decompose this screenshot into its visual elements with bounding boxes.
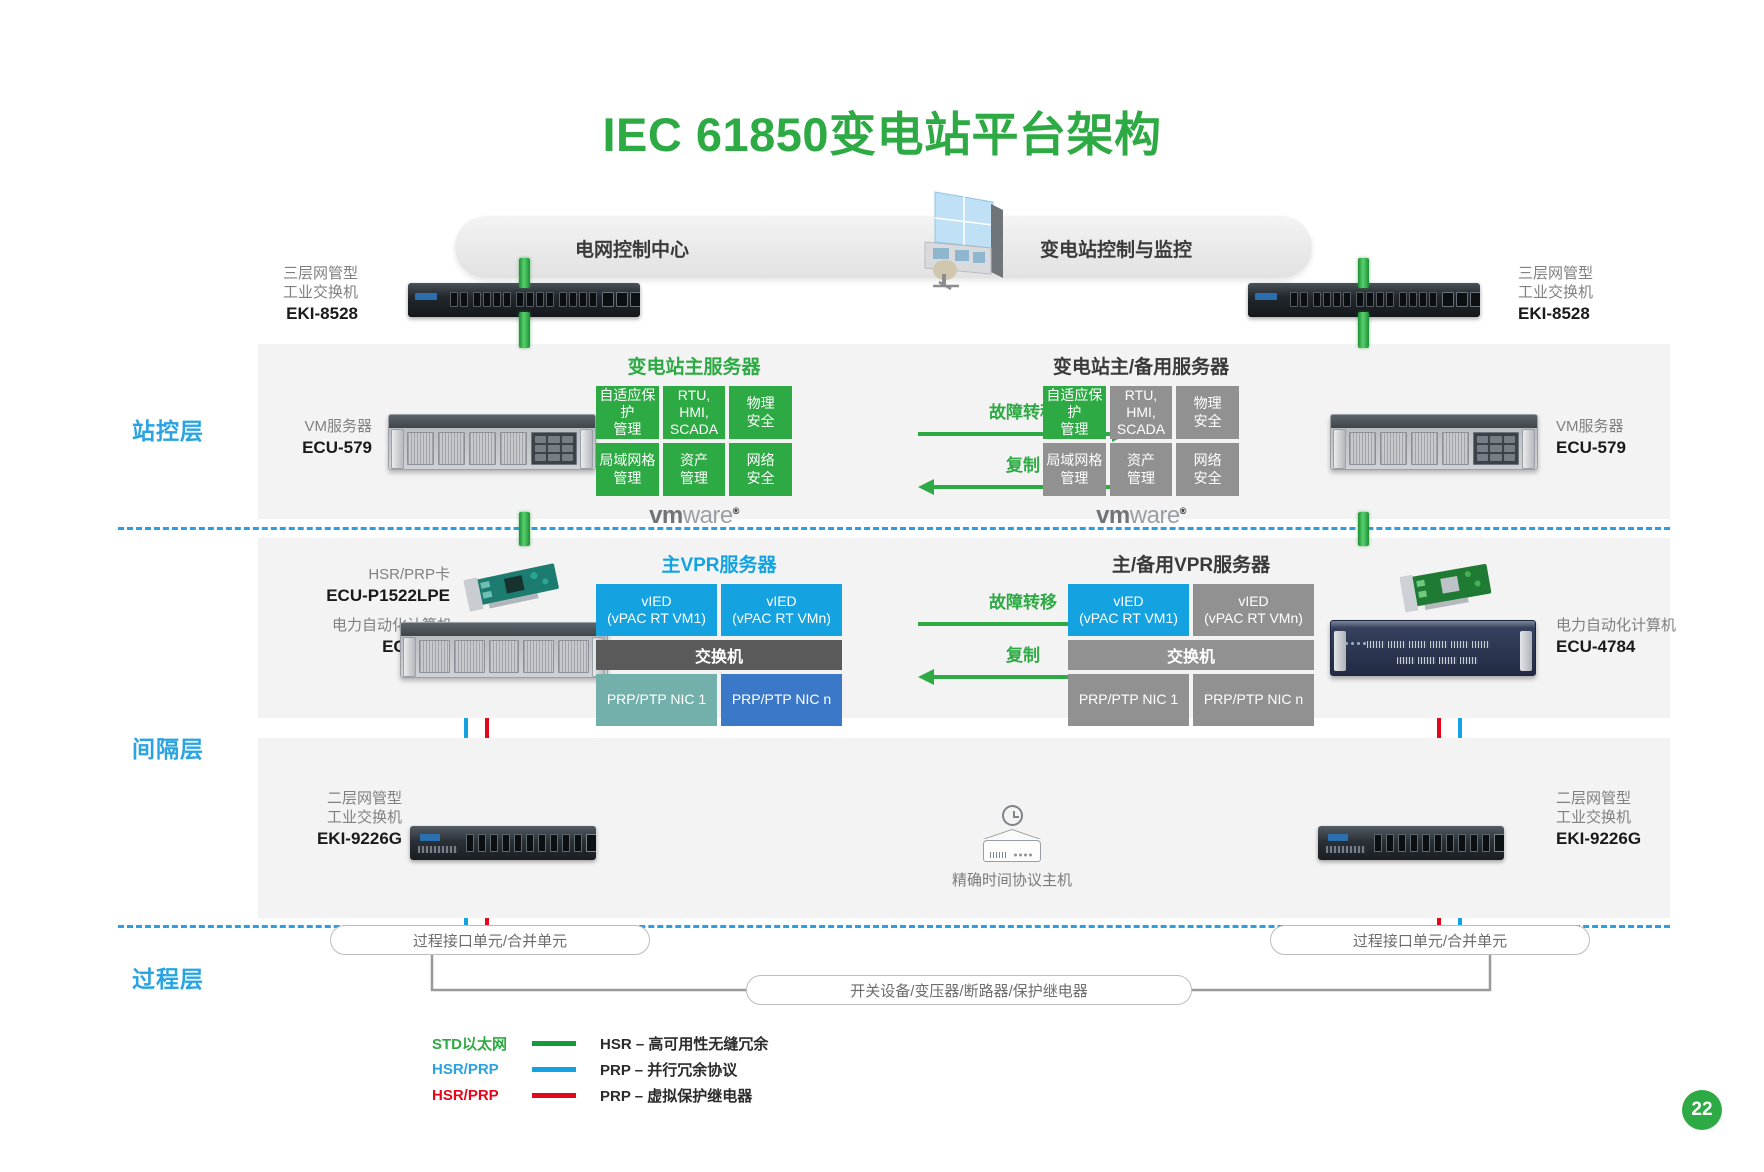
caption-switch-l2-left: 二层网管型 工业交换机 EKI-9226G	[262, 790, 402, 849]
app-cell[interactable]: RTU, HMI,SCADA	[663, 386, 726, 439]
station-server-left-header: 变电站主服务器	[596, 352, 792, 379]
vm-server-right-sub1: VM服务器	[1556, 418, 1676, 437]
app-cell[interactable]: 资产管理	[663, 443, 726, 496]
diagram-canvas: IEC 61850变电站平台架构 电网控制中心 变电站控制与监控	[0, 0, 1764, 1172]
switch-l3-right-sub1: 三层网管型	[1518, 265, 1658, 284]
app-cell[interactable]: 局域网格管理	[596, 443, 659, 496]
app-cell[interactable]: 物理安全	[729, 386, 792, 439]
port-array	[466, 834, 596, 852]
nic-cell[interactable]: PRP/PTP NIC 1	[1068, 674, 1189, 726]
rack-ear-left	[391, 429, 404, 469]
rack-ear-left	[1333, 429, 1346, 469]
led-bank	[1326, 846, 1366, 853]
clock-icon	[1002, 805, 1023, 826]
legend-row: HSR/PRP PRP – 虚拟保护继电器	[432, 1082, 768, 1108]
app-cell[interactable]: 自适应保护管理	[1043, 386, 1106, 439]
legend: STD以太网 HSR – 高可用性无缝冗余 HSR/PRP PRP – 并行冗余…	[432, 1030, 768, 1108]
vm-server-left-model: ECU-579	[262, 437, 372, 458]
vpr-right-nic-row: PRP/PTP NIC 1 PRP/PTP NIC n	[1068, 674, 1314, 726]
drive-bays	[407, 432, 577, 465]
pac-right-sub1: 电力自动化计算机	[1556, 617, 1746, 636]
server-top-bezel	[401, 623, 607, 636]
server-top-bezel	[1331, 415, 1537, 428]
port-array	[1374, 834, 1504, 852]
legend-key: STD以太网	[432, 1033, 528, 1054]
link-green-topbar-switch-left	[519, 258, 530, 288]
switch-l3-right-sub2: 工业交换机	[1518, 284, 1658, 303]
switchgear-bar: 开关设备/变压器/断路器/保护继电器	[746, 975, 1192, 1005]
nic-cell[interactable]: PRP/PTP NIC 1	[596, 674, 717, 726]
switch-l2-left-sub2: 工业交换机	[262, 809, 402, 828]
caption-switch-l2-right: 二层网管型 工业交换机 EKI-9226G	[1556, 790, 1696, 849]
brand-mark	[1255, 293, 1277, 300]
process-interface-unit-right: 过程接口单元/合并单元	[1270, 925, 1590, 955]
port-row-2	[1397, 657, 1478, 664]
page-title: IEC 61850变电站平台架构	[0, 96, 1764, 165]
caption-switch-l3-right: 三层网管型 工业交换机 EKI-8528	[1518, 265, 1658, 324]
vpr-left-header: 主VPR服务器	[596, 550, 842, 577]
legend-key: HSR/PRP	[432, 1087, 528, 1104]
server-top-bezel	[389, 415, 595, 428]
switch-l2-right-sub2: 工业交换机	[1556, 809, 1696, 828]
nic-card-ecu-p1524pe[interactable]	[1400, 562, 1504, 614]
switch-eki-9226g-left[interactable]	[410, 826, 596, 860]
vied-cell[interactable]: vIED(vPAC RT VMn)	[721, 584, 842, 636]
brand-mark	[415, 293, 437, 300]
vpr-right-vied-row: vIED(vPAC RT VM1) vIED(vPAC RT VMn)	[1068, 584, 1314, 636]
vied-cell[interactable]: vIED(vPAC RT VM1)	[1068, 584, 1189, 636]
server-ecu-579-right[interactable]	[1330, 414, 1538, 470]
vpr-left-nic-row: PRP/PTP NIC 1 PRP/PTP NIC n	[596, 674, 842, 726]
legend-row: STD以太网 HSR – 高可用性无缝冗余	[432, 1030, 768, 1056]
app-cell[interactable]: RTU, HMI,SCADA	[1110, 386, 1173, 439]
process-interface-unit-left-label: 过程接口单元/合并单元	[413, 930, 567, 951]
legend-line-swatch	[532, 1067, 576, 1072]
brand-mark	[1328, 834, 1348, 841]
server-ecu-479[interactable]	[400, 622, 608, 678]
nic-left-model: ECU-P1522LPE	[320, 585, 450, 606]
pac-right-model: ECU-4784	[1556, 636, 1746, 657]
grid-control-centre-label: 电网控制中心	[575, 235, 689, 262]
caption-nic-left: HSR/PRP卡 ECU-P1522LPE	[320, 566, 450, 606]
vpr-left-vied-row: vIED(vPAC RT VM1) vIED(vPAC RT VMn)	[596, 584, 842, 636]
control-centre-bar: 电网控制中心 变电站控制与监控	[455, 216, 1312, 278]
vied-cell[interactable]: vIED(vPAC RT VM1)	[596, 584, 717, 636]
link-green-bay-left	[519, 512, 530, 546]
switch-l3-right-model: EKI-8528	[1518, 303, 1658, 324]
rack-ear-right	[1522, 429, 1535, 469]
rack-ear-right	[580, 429, 593, 469]
control-room-icon	[905, 190, 1015, 290]
link-green-bay-right	[1358, 512, 1369, 546]
port-array	[450, 292, 640, 307]
substation-control-label: 变电站控制与监控	[1040, 235, 1192, 262]
app-cell[interactable]: 局域网格管理	[1043, 443, 1106, 496]
caption-switch-l3-left: 三层网管型 工业交换机 EKI-8528	[248, 265, 358, 324]
station-server-right-block: 变电站主/备用服务器 自适应保护管理 RTU, HMI,SCADA 物理安全 局…	[1043, 352, 1239, 530]
app-cell[interactable]: 自适应保护管理	[596, 386, 659, 439]
vmware-logo-left: vmware®	[596, 502, 792, 530]
drive-bays	[419, 640, 589, 673]
vied-cell[interactable]: vIED(vPAC RT VMn)	[1193, 584, 1314, 636]
app-cell[interactable]: 网络安全	[729, 443, 792, 496]
nic-left-sub1: HSR/PRP卡	[320, 566, 450, 585]
app-cell[interactable]: 资产管理	[1110, 443, 1173, 496]
port-row-1	[1367, 641, 1490, 648]
computer-ecu-4784[interactable]	[1330, 620, 1536, 676]
caption-vm-server-right: VM服务器 ECU-579	[1556, 418, 1676, 458]
ptp-host-label: 精确时间协议主机	[952, 869, 1072, 890]
caption-pac-right: 电力自动化计算机 ECU-4784	[1556, 617, 1746, 657]
switch-l3-left-sub1: 三层网管型	[248, 265, 358, 284]
station-server-left-block: 变电站主服务器 自适应保护管理 RTU, HMI,SCADA 物理安全 局域网格…	[596, 352, 792, 530]
nic-cell[interactable]: PRP/PTP NIC n	[1193, 674, 1314, 726]
vpr-right-block: 主/备用VPR服务器 vIED(vPAC RT VM1) vIED(vPAC R…	[1068, 550, 1314, 726]
vm-server-left-sub1: VM服务器	[262, 418, 372, 437]
ptp-host[interactable]: 精确时间协议主机	[952, 805, 1072, 890]
app-cell[interactable]: 物理安全	[1176, 386, 1239, 439]
legend-line-swatch	[532, 1041, 576, 1046]
process-interface-unit-left: 过程接口单元/合并单元	[330, 925, 650, 955]
switch-l2-right-model: EKI-9226G	[1556, 828, 1696, 849]
station-server-right-header: 变电站主/备用服务器	[1043, 352, 1239, 379]
rack-ear-left	[1334, 631, 1346, 671]
vpr-left-block: 主VPR服务器 vIED(vPAC RT VM1) vIED(vPAC RT V…	[596, 550, 842, 726]
switch-l3-left-sub2: 工业交换机	[248, 284, 358, 303]
legend-key: HSR/PRP	[432, 1061, 528, 1078]
switchgear-bar-label: 开关设备/变压器/断路器/保护继电器	[850, 980, 1088, 1001]
vm-server-right-model: ECU-579	[1556, 437, 1676, 458]
legend-text: PRP – 虚拟保护继电器	[600, 1085, 752, 1106]
layer-label-process: 过程层	[132, 960, 204, 994]
legend-row: HSR/PRP PRP – 并行冗余协议	[432, 1056, 768, 1082]
caption-vm-server-left: VM服务器 ECU-579	[262, 418, 372, 458]
vmware-logo-right: vmware®	[1043, 502, 1239, 530]
layer-label-bay: 间隔层	[132, 730, 204, 764]
led-bank	[418, 846, 458, 853]
link-green-topbar-switch-right	[1358, 258, 1369, 288]
legend-text: HSR – 高可用性无缝冗余	[600, 1033, 768, 1054]
legend-text: PRP – 并行冗余协议	[600, 1059, 737, 1080]
switch-l2-left-model: EKI-9226G	[262, 828, 402, 849]
vpr-left-switch-bar: 交换机	[596, 640, 842, 670]
server-ecu-579-left[interactable]	[388, 414, 596, 470]
page-number-badge: 22	[1682, 1090, 1722, 1130]
station-server-left-grid: 自适应保护管理 RTU, HMI,SCADA 物理安全 局域网格管理 资产管理 …	[596, 386, 792, 496]
nic-cell[interactable]: PRP/PTP NIC n	[721, 674, 842, 726]
app-cell[interactable]: 网络安全	[1176, 443, 1239, 496]
rack-ear-left	[403, 637, 416, 677]
link-green-switch-server-right	[1358, 312, 1369, 348]
switch-l3-left-model: EKI-8528	[248, 303, 358, 324]
separator-station-bay	[118, 527, 1670, 530]
port-array	[1290, 292, 1480, 307]
station-server-right-grid: 自适应保护管理 RTU, HMI,SCADA 物理安全 局域网格管理 资产管理 …	[1043, 386, 1239, 496]
switch-l2-left-sub1: 二层网管型	[262, 790, 402, 809]
layer-label-station: 站控层	[132, 412, 204, 446]
link-green-switch-server-left	[519, 312, 530, 348]
drive-bays	[1349, 432, 1519, 465]
ptp-roof	[983, 830, 1041, 840]
ptp-body	[983, 840, 1041, 862]
nic-card-ecu-p1522lpe[interactable]	[462, 562, 566, 614]
switch-eki-9226g-right[interactable]	[1318, 826, 1504, 860]
switch-l2-right-sub1: 二层网管型	[1556, 790, 1696, 809]
vpr-right-switch-bar: 交换机	[1068, 640, 1314, 670]
legend-line-swatch	[532, 1093, 576, 1098]
brand-mark	[420, 834, 440, 841]
vpr-right-header: 主/备用VPR服务器	[1068, 550, 1314, 577]
rack-ear-right	[1520, 631, 1532, 671]
process-interface-unit-right-label: 过程接口单元/合并单元	[1353, 930, 1507, 951]
